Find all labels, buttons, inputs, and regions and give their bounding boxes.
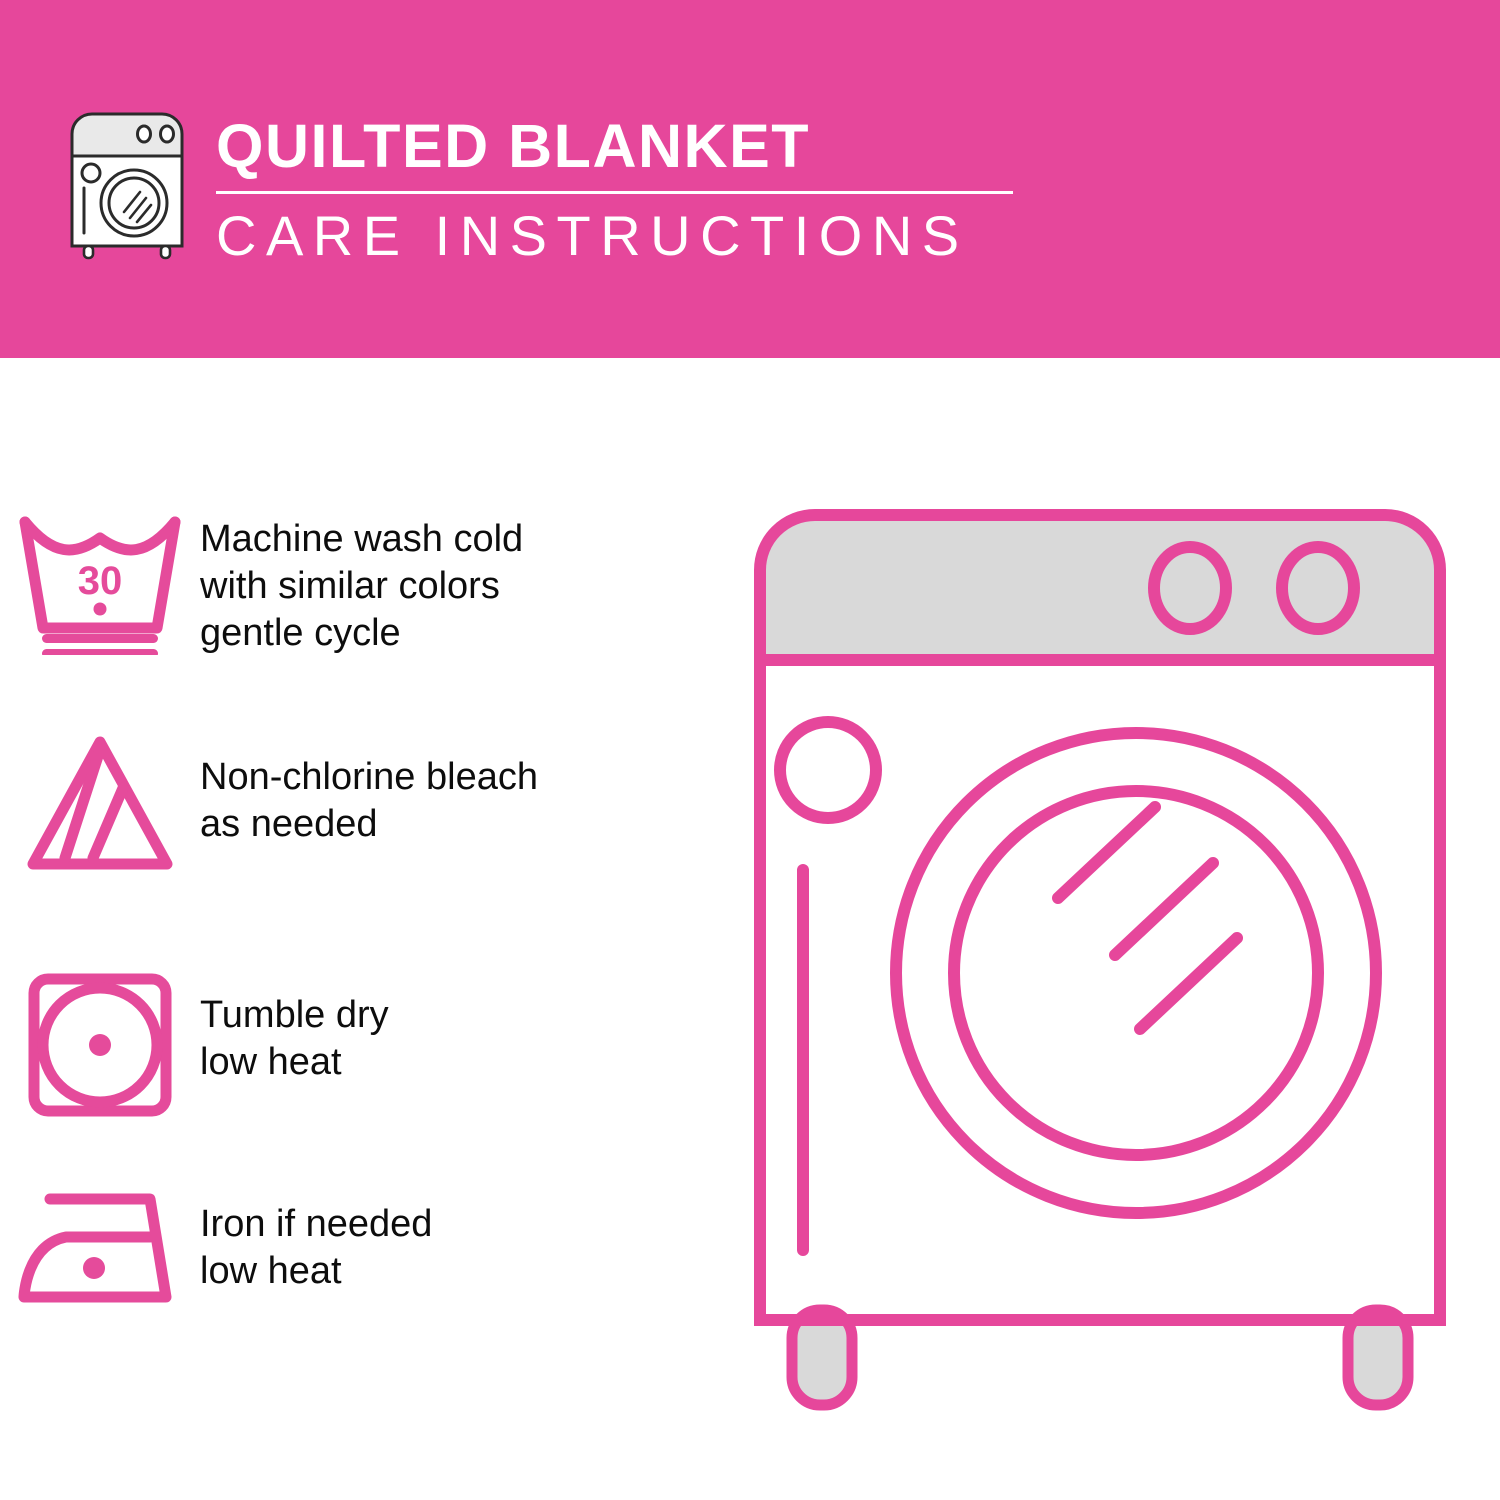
non-chlorine-bleach-triangle-icon [0,728,200,878]
washing-machine-icon [66,108,188,260]
front-load-washing-machine-illustration [740,495,1450,1430]
wash-temperature-label: 30 [78,559,123,603]
list-item-label: Non-chlorine bleach as needed [200,728,538,848]
list-item: Non-chlorine bleach as needed [0,728,720,878]
tumble-dry-low-heat-icon [0,970,200,1120]
drum-streaks [1058,807,1237,1029]
care-instructions-infographic: QUILTED BLANKET CARE INSTRUCTIONS 30 Mac… [0,0,1500,1500]
list-item: 30 Machine wash cold with similar colors… [0,510,720,657]
page-title: QUILTED BLANKET [216,110,1036,182]
care-symbol-list: 30 Machine wash cold with similar colors… [0,405,720,1405]
control-panel [760,515,1440,660]
page-subtitle: CARE INSTRUCTIONS [216,203,1036,269]
list-item-label: Tumble dry low heat [200,970,389,1086]
wash-tub-30-gentle-icon: 30 [0,510,200,655]
header-banner: QUILTED BLANKET CARE INSTRUCTIONS [0,0,1500,358]
list-item-label: Machine wash cold with similar colors ge… [200,510,523,657]
drum-inner-circle [954,791,1318,1155]
list-item: Tumble dry low heat [0,970,720,1120]
list-item-label: Iron if needed low heat [200,1185,432,1295]
header-title-block: QUILTED BLANKET CARE INSTRUCTIONS [216,110,1036,269]
title-divider [216,191,1013,194]
iron-low-heat-icon [0,1185,200,1310]
door-drum [896,733,1376,1213]
indicator-light [780,722,876,818]
list-item: Iron if needed low heat [0,1185,720,1310]
